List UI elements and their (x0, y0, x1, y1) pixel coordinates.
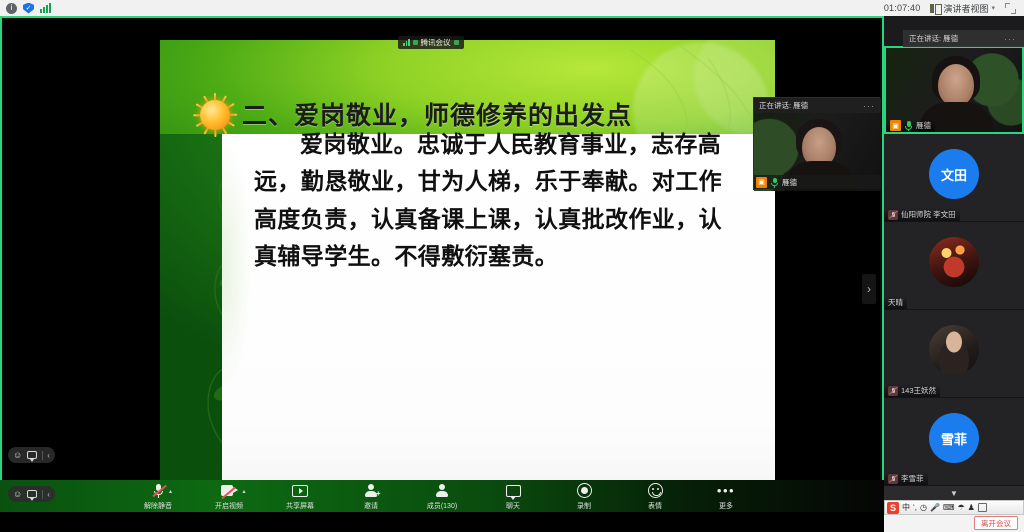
chat-icon: ▪▪ (506, 482, 521, 499)
rail-speaking-banner: 正在讲话: 雁德 ··· (903, 30, 1024, 47)
mic-muted-icon (888, 386, 898, 396)
emoji-icon (648, 482, 663, 499)
floating-thumb-name: 雁德 (782, 177, 797, 188)
meeting-timer: 01:07:40 (884, 3, 921, 13)
toolbar-button-share-screen[interactable]: 共享屏幕 (273, 482, 327, 511)
toolbar-label-share-screen: 共享屏幕 (286, 501, 314, 511)
participant-name: 143王妖然 (901, 385, 936, 396)
chevron-down-icon: ▾ (991, 4, 995, 12)
floating-speaking-label: 正在讲话: 雁德 (759, 100, 808, 111)
sogou-ime-icon[interactable]: S (887, 502, 899, 514)
participant-name: 仙阳师院 李文田 (901, 209, 956, 220)
ime-tool-icon[interactable]: ♟ (968, 503, 975, 512)
app-root: i ✓ 01:07:40 演讲者视图 ▾ (0, 0, 1024, 532)
signal-icon (403, 39, 410, 46)
ime-voice-icon[interactable]: 🎤 (930, 503, 940, 512)
toolbar-label-record: 录制 (577, 501, 591, 511)
emoji-icon[interactable]: ☺ (13, 451, 22, 460)
toolbar-label-unmute: 解除静音 (144, 501, 172, 511)
meeting-toolbar: ▴ 解除静音 ▴ 开启视频 共享屏幕 + 邀请 (0, 480, 884, 512)
participant-tile-xuefei[interactable]: 雪菲 李雪菲 (884, 398, 1024, 486)
avatar: 雪菲 (929, 413, 979, 463)
camera-off-icon: ▴ (221, 482, 238, 499)
avatar (929, 237, 979, 287)
collapse-chevron-icon[interactable]: ‹ (42, 451, 50, 460)
reaction-pill-top[interactable]: ☺ ‹ (8, 447, 55, 463)
ime-toolbar[interactable]: S 中 ʻ, ◷ 🎤 ⌨ ☂ ♟ (884, 500, 1024, 515)
invite-person-icon: + (364, 482, 379, 499)
toolbar-label-chat: 聊天 (506, 501, 520, 511)
slide-title: 二、爱岗敬业，师德修养的出发点 (242, 96, 762, 132)
participant-tile-speaker[interactable]: ▣ 雁德 (884, 46, 1024, 134)
record-icon (577, 482, 592, 499)
toolbar-button-chat[interactable]: ▪▪ 聊天 (486, 482, 540, 511)
floating-thumb-name-bar: ▣ 雁德 (754, 175, 881, 189)
participant-name-bar: 143王妖然 (884, 384, 940, 397)
speaker-view-button[interactable]: 演讲者视图 ▾ (930, 2, 995, 15)
floating-speaker-thumbnail[interactable]: 正在讲话: 雁德 ··· ▣ 雁德 (753, 97, 880, 190)
ime-mode-chinese[interactable]: 中 (902, 502, 910, 513)
rail-scroll-down-button[interactable]: ▼ (884, 486, 1024, 500)
participant-name-bar: 天晴 (884, 296, 907, 309)
ime-keyboard-icon[interactable]: ⌨ (943, 503, 955, 512)
emoji-icon[interactable]: ☺ (13, 490, 22, 499)
slide-body-text: 爱岗敬业。忠诚于人民教育事业，志存高远，勤恳敬业，甘为人梯，乐于奉献。对工作高度… (254, 126, 724, 275)
participant-name-bar: 李雪菲 (884, 472, 928, 485)
members-icon (435, 482, 450, 499)
more-icon[interactable]: ··· (1004, 34, 1016, 44)
chevron-up-icon[interactable]: ▴ (242, 488, 245, 495)
mic-muted-icon (888, 474, 898, 484)
ime-clock-icon[interactable]: ◷ (920, 503, 927, 512)
participant-tile-wangyaoran[interactable]: 143王妖然 (884, 310, 1024, 398)
topbar-right-group: 01:07:40 演讲者视图 ▾ (884, 2, 1024, 15)
participant-rail: 正在讲话: 雁德 ··· ▣ 雁德 文田 仙阳师院 李文田 (884, 16, 1024, 500)
toolbar-button-invite[interactable]: + 邀请 (344, 482, 398, 511)
status-dot-icon (413, 40, 418, 45)
share-status-tag: 腾讯会议 (398, 36, 464, 49)
stage-next-chevron-icon[interactable]: › (862, 274, 876, 304)
more-icon[interactable]: ··· (863, 101, 875, 111)
participant-name: 天晴 (888, 297, 903, 308)
toolbar-button-unmute[interactable]: ▴ 解除静音 (131, 482, 185, 511)
participant-tile-wentian[interactable]: 文田 仙阳师院 李文田 (884, 134, 1024, 222)
pin-icon[interactable]: ▣ (756, 177, 767, 188)
collapse-chevron-icon[interactable]: ‹ (42, 490, 50, 499)
chat-icon[interactable] (27, 490, 37, 498)
browser-top-bar: i ✓ 01:07:40 演讲者视图 ▾ (0, 0, 1024, 16)
signal-icon (40, 3, 51, 13)
toolbar-button-emoji[interactable]: 表情 (628, 482, 682, 511)
toolbar-label-start-video: 开启视频 (215, 501, 243, 511)
sun-icon (192, 92, 238, 138)
shared-screen-stage: 二、爱岗敬业，师德修养的出发点 爱岗敬业。忠诚于人民教育事业，志存高远，勤恳敬业… (0, 16, 884, 512)
toolbar-button-record[interactable]: 录制 (557, 482, 611, 511)
system-tray: S 中 ʻ, ◷ 🎤 ⌨ ☂ ♟ 离开会议 (884, 500, 1024, 532)
participant-name: 雁德 (916, 120, 931, 131)
layout-icon (930, 4, 940, 13)
avatar: 文田 (929, 149, 979, 199)
toolbar-button-start-video[interactable]: ▴ 开启视频 (202, 482, 256, 511)
toolbar-button-more[interactable]: ••• 更多 (699, 482, 753, 511)
rail-speaking-label: 正在讲话: 雁德 (909, 33, 958, 44)
presentation-slide: 二、爱岗敬业，师德修养的出发点 爱岗敬业。忠诚于人民教育事业，志存高远，勤恳敬业… (160, 40, 775, 506)
mic-muted-icon (888, 210, 898, 220)
toolbar-label-invite: 邀请 (364, 501, 378, 511)
chevron-up-icon[interactable]: ▴ (169, 488, 172, 495)
mic-muted-icon: ▴ (152, 482, 164, 499)
toolbar-label-emoji: 表情 (648, 501, 662, 511)
reaction-pill-bottom[interactable]: ☺ ‹ (8, 486, 55, 502)
toolbar-label-members: 成员(130) (427, 501, 457, 511)
chat-icon[interactable] (27, 451, 37, 459)
participant-name-bar: ▣ 雁德 (886, 119, 935, 132)
ime-panel-icon[interactable] (978, 503, 987, 512)
fullscreen-icon[interactable] (1005, 3, 1016, 14)
mic-icon (904, 120, 913, 131)
avatar (929, 325, 979, 375)
ime-umbrella-icon[interactable]: ☂ (958, 503, 965, 512)
ime-punctuation-icon[interactable]: ʻ, (913, 503, 917, 512)
pin-icon[interactable]: ▣ (890, 120, 901, 131)
mic-icon (770, 177, 779, 188)
toolbar-label-more: 更多 (719, 501, 733, 511)
toolbar-button-members[interactable]: 成员(130) (415, 482, 469, 511)
info-icon[interactable]: i (6, 3, 17, 14)
speaker-view-label: 演讲者视图 (943, 2, 988, 15)
participant-tile-tianqing[interactable]: 天晴 (884, 222, 1024, 310)
share-screen-icon (292, 482, 308, 499)
status-dot-icon-2 (454, 40, 459, 45)
participant-name: 李雪菲 (901, 473, 924, 484)
floating-thumb-header: 正在讲话: 雁德 ··· (754, 98, 881, 113)
topbar-icon-group: i ✓ (0, 3, 51, 14)
shield-icon[interactable]: ✓ (23, 3, 34, 14)
leave-meeting-button[interactable]: 离开会议 (974, 516, 1018, 530)
avatar-face (938, 64, 974, 106)
share-tag-label: 腾讯会议 (421, 37, 451, 48)
participant-name-bar: 仙阳师院 李文田 (884, 208, 960, 221)
more-icon: ••• (717, 482, 735, 499)
